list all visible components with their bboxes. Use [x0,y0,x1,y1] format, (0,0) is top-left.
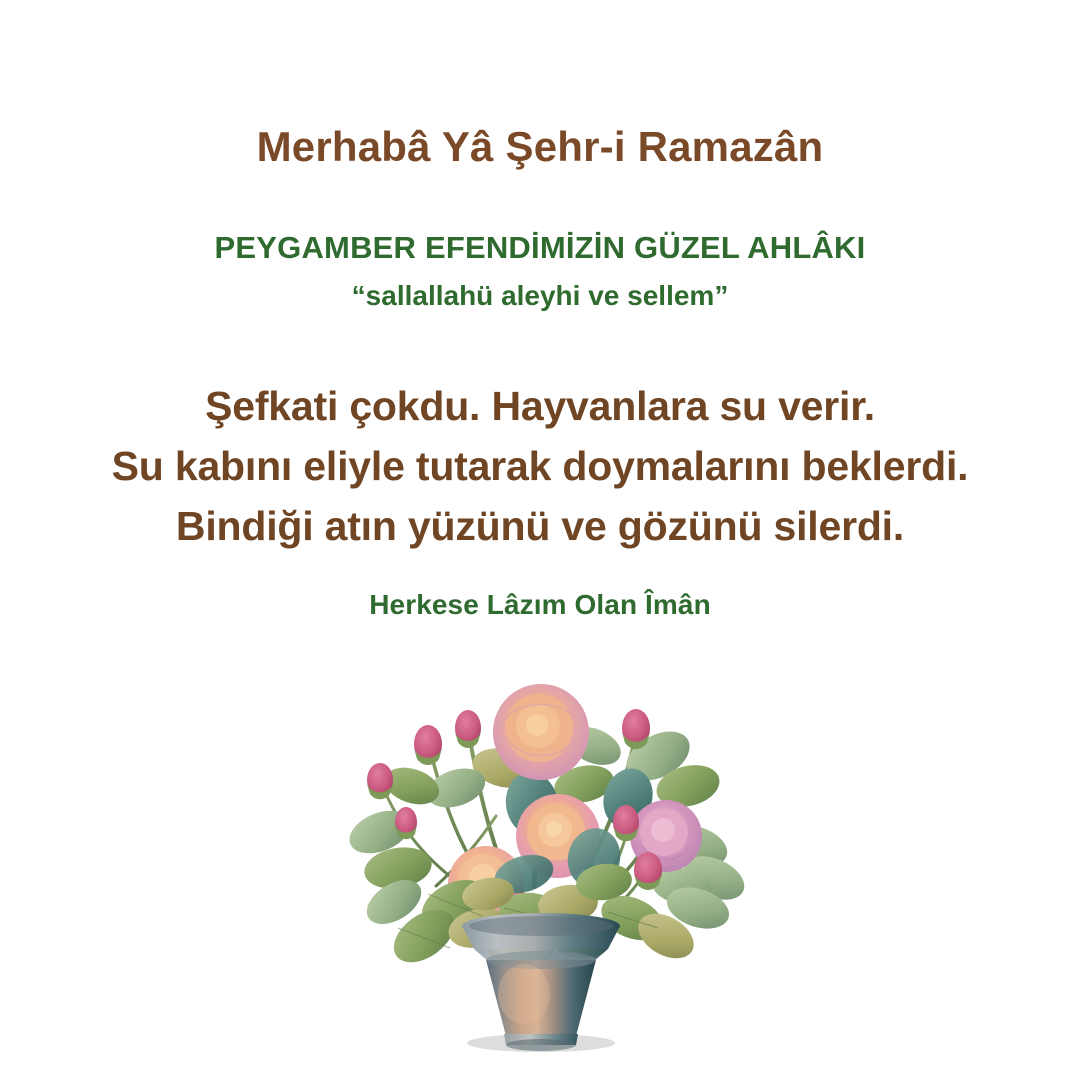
greeting-card-canvas: Merhabâ Yâ Şehr-i Ramazân PEYGAMBER EFEN… [0,0,1080,1080]
subtitle-heading: PEYGAMBER EFENDİMİZİN GÜZEL AHLÂKI [0,231,1080,265]
potted-rose-illustration [336,636,746,1056]
flower-pot [462,913,620,1052]
body-line-2: Su kabını eliyle tutarak doymalarını bek… [0,436,1080,496]
body-line-3: Bindiği atın yüzünü ve gözünü silerdi. [0,496,1080,556]
body-text: Şefkati çokdu. Hayvanlara su verir. Su k… [0,376,1080,556]
source-attribution: Herkese Lâzım Olan Îmân [0,589,1080,621]
subtitle-honorific: “sallallahü aleyhi ve sellem” [0,281,1080,312]
card-content: Merhabâ Yâ Şehr-i Ramazân PEYGAMBER EFEN… [0,0,1080,1080]
page-title: Merhabâ Yâ Şehr-i Ramazân [0,124,1080,169]
body-line-1: Şefkati çokdu. Hayvanlara su verir. [0,376,1080,436]
rose-top [493,684,589,780]
